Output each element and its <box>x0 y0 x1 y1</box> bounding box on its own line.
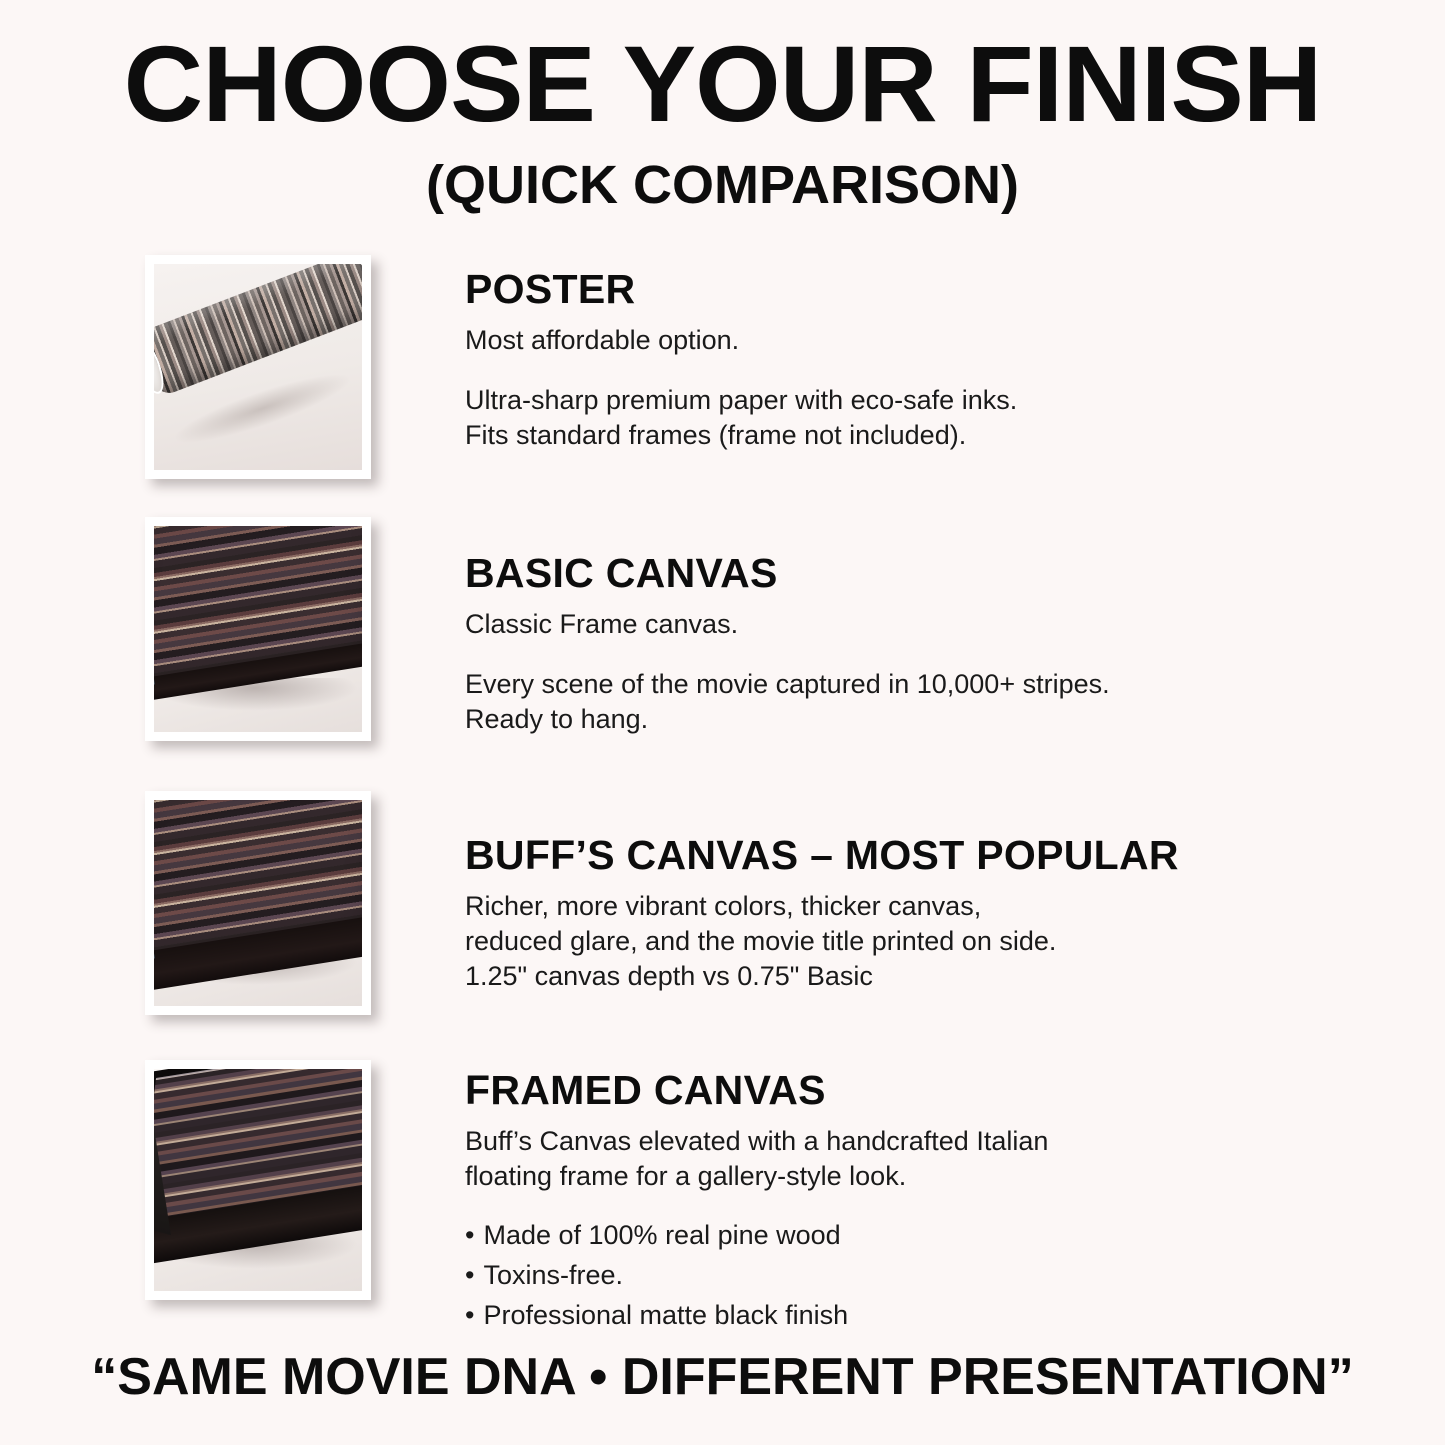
framed-canvas-content: FRAMED CANVAS Buff’s Canvas elevated wit… <box>465 1069 1225 1336</box>
option-row-basic-canvas: BASIC CANVAS Classic Frame canvas. Every… <box>0 512 1445 742</box>
option-lead-basic-canvas: Classic Frame canvas. <box>465 607 1225 641</box>
buffs-canvas-image-card <box>145 791 371 1015</box>
body-line: Ready to hang. <box>465 702 1225 737</box>
list-item-label: Professional matte black finish <box>483 1300 848 1330</box>
option-heading-framed-canvas: FRAMED CANVAS <box>465 1069 1225 1112</box>
list-item: •Professional matte black finish <box>465 1296 1225 1336</box>
body-line: Buff’s Canvas elevated with a handcrafte… <box>465 1124 1225 1159</box>
list-item: •Toxins-free. <box>465 1256 1225 1296</box>
option-row-poster: POSTER Most affordable option. Ultra-sha… <box>0 250 1445 480</box>
footer-tagline: “SAME MOVIE DNA • DIFFERENT PRESENTATION… <box>0 1347 1445 1407</box>
rolled-poster-photo <box>154 264 362 470</box>
header: CHOOSE YOUR FINISH (QUICK COMPARISON) <box>0 0 1445 212</box>
option-row-buffs-canvas: BUFF’S CANVAS – MOST POPULAR Richer, mor… <box>0 786 1445 1016</box>
option-body-poster: Ultra-sharp premium paper with eco-safe … <box>465 383 1225 453</box>
option-heading-poster: POSTER <box>465 268 1225 311</box>
page-subtitle: (QUICK COMPARISON) <box>0 158 1445 212</box>
buffs-canvas-content: BUFF’S CANVAS – MOST POPULAR Richer, mor… <box>465 834 1225 994</box>
list-item-label: Toxins-free. <box>483 1260 623 1290</box>
framed-canvas-image-card <box>145 1060 371 1300</box>
body-line: reduced glare, and the movie title print… <box>465 924 1225 959</box>
basic-canvas-content: BASIC CANVAS Classic Frame canvas. Every… <box>465 552 1225 737</box>
list-item: •Made of 100% real pine wood <box>465 1216 1225 1256</box>
poster-content: POSTER Most affordable option. Ultra-sha… <box>465 268 1225 453</box>
infographic-page: CHOOSE YOUR FINISH (QUICK COMPARISON) PO… <box>0 0 1445 1445</box>
poster-image-card <box>145 255 371 479</box>
option-lead-poster: Most affordable option. <box>465 323 1225 357</box>
basic-canvas-image-card <box>145 517 371 741</box>
body-line: Richer, more vibrant colors, thicker can… <box>465 889 1225 924</box>
page-title: CHOOSE YOUR FINISH <box>0 30 1445 138</box>
option-heading-basic-canvas: BASIC CANVAS <box>465 552 1225 595</box>
bullet-dot-icon: • <box>465 1300 474 1330</box>
option-body-buffs-canvas: Richer, more vibrant colors, thicker can… <box>465 889 1225 994</box>
bullet-dot-icon: • <box>465 1220 474 1250</box>
option-heading-buffs-canvas: BUFF’S CANVAS – MOST POPULAR <box>465 834 1225 877</box>
option-body-framed-canvas: Buff’s Canvas elevated with a handcrafte… <box>465 1124 1225 1194</box>
body-line: 1.25" canvas depth vs 0.75" Basic <box>465 959 1225 994</box>
body-line: Every scene of the movie captured in 10,… <box>465 667 1225 702</box>
bullet-dot-icon: • <box>465 1260 474 1290</box>
list-item-label: Made of 100% real pine wood <box>483 1220 840 1250</box>
roll-end-cap <box>154 334 169 398</box>
body-line: Fits standard frames (frame not included… <box>465 418 1225 453</box>
option-row-framed-canvas: FRAMED CANVAS Buff’s Canvas elevated wit… <box>0 1055 1445 1285</box>
buffs-canvas-photo <box>154 800 362 1006</box>
framed-canvas-bullet-list: •Made of 100% real pine wood •Toxins-fre… <box>465 1216 1225 1336</box>
body-line: Ultra-sharp premium paper with eco-safe … <box>465 383 1225 418</box>
option-body-basic-canvas: Every scene of the movie captured in 10,… <box>465 667 1225 737</box>
body-line: floating frame for a gallery-style look. <box>465 1159 1225 1194</box>
basic-canvas-photo <box>154 526 362 732</box>
framed-canvas-photo <box>154 1069 362 1291</box>
